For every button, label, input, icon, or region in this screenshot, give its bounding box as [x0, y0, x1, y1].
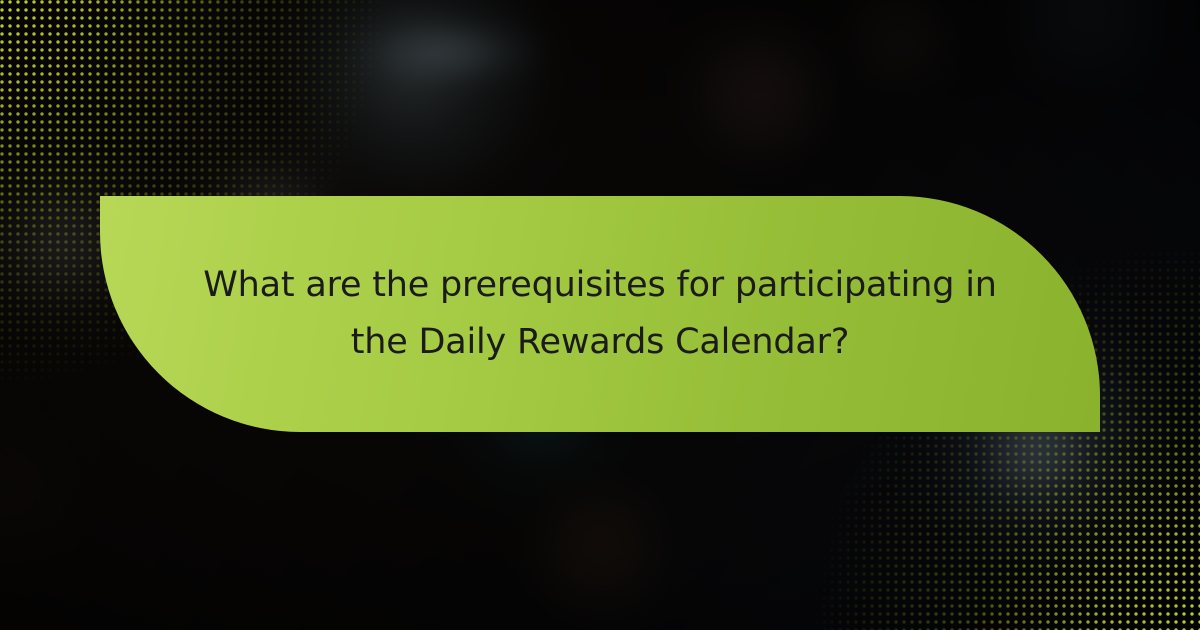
question-text: What are the prerequisites for participa… [200, 257, 1000, 370]
question-card: What are the prerequisites for participa… [100, 196, 1100, 432]
screenshot-canvas: What are the prerequisites for participa… [0, 0, 1200, 630]
